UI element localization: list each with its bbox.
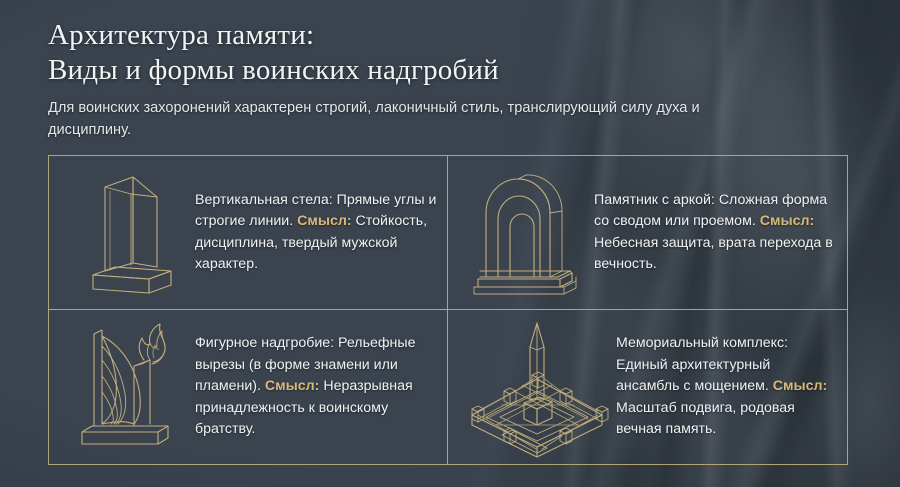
meaning-label: Смысл: xyxy=(265,378,320,394)
table-cell-memorial-complex: Мемориальный комплекс: Единый архитектур… xyxy=(448,310,847,464)
meaning-label: Смысл: xyxy=(773,378,828,394)
cell-text-vertical-stele: Вертикальная стела: Прямые углы и строги… xyxy=(191,190,437,276)
monument-types-table: Вертикальная стела: Прямые углы и строги… xyxy=(48,155,848,465)
table-cell-vertical-stele: Вертикальная стела: Прямые углы и строги… xyxy=(49,156,448,310)
arch-monument-icon xyxy=(462,163,590,303)
cell-title: Мемориальный комплекс: Единый архитектур… xyxy=(616,335,788,394)
meaning-text: Небесная защита, врата перехода в вечнос… xyxy=(594,235,833,273)
cell-text-memorial-complex: Мемориальный комплекс: Единый архитектур… xyxy=(612,333,837,441)
cell-text-figured-headstone: Фигурное надгробие: Рельефные вырезы (в … xyxy=(191,333,437,441)
meaning-label: Смысл: xyxy=(760,213,815,229)
table-cell-arch-monument: Памятник с аркой: Сложная форма со сводо… xyxy=(448,156,847,310)
header: Архитектура памяти: Виды и формы воински… xyxy=(48,18,748,141)
figured-headstone-flame-banner-icon xyxy=(63,317,191,457)
page-title-line-2: Виды и формы воинских надгробий xyxy=(48,52,748,88)
vertical-stele-icon xyxy=(63,163,191,303)
page-subtitle: Для воинских захоронений характерен стро… xyxy=(48,97,768,141)
meaning-label: Смысл: xyxy=(297,213,352,229)
page-title-line-1: Архитектура памяти: xyxy=(48,18,748,52)
slide-root: Архитектура памяти: Виды и формы воински… xyxy=(0,0,900,487)
table-cell-figured-headstone: Фигурное надгробие: Рельефные вырезы (в … xyxy=(49,310,448,464)
memorial-complex-obelisk-icon xyxy=(462,317,612,457)
cell-text-arch-monument: Памятник с аркой: Сложная форма со сводо… xyxy=(590,190,837,276)
meaning-text: Масштаб подвига, родовая вечная память. xyxy=(616,400,795,438)
